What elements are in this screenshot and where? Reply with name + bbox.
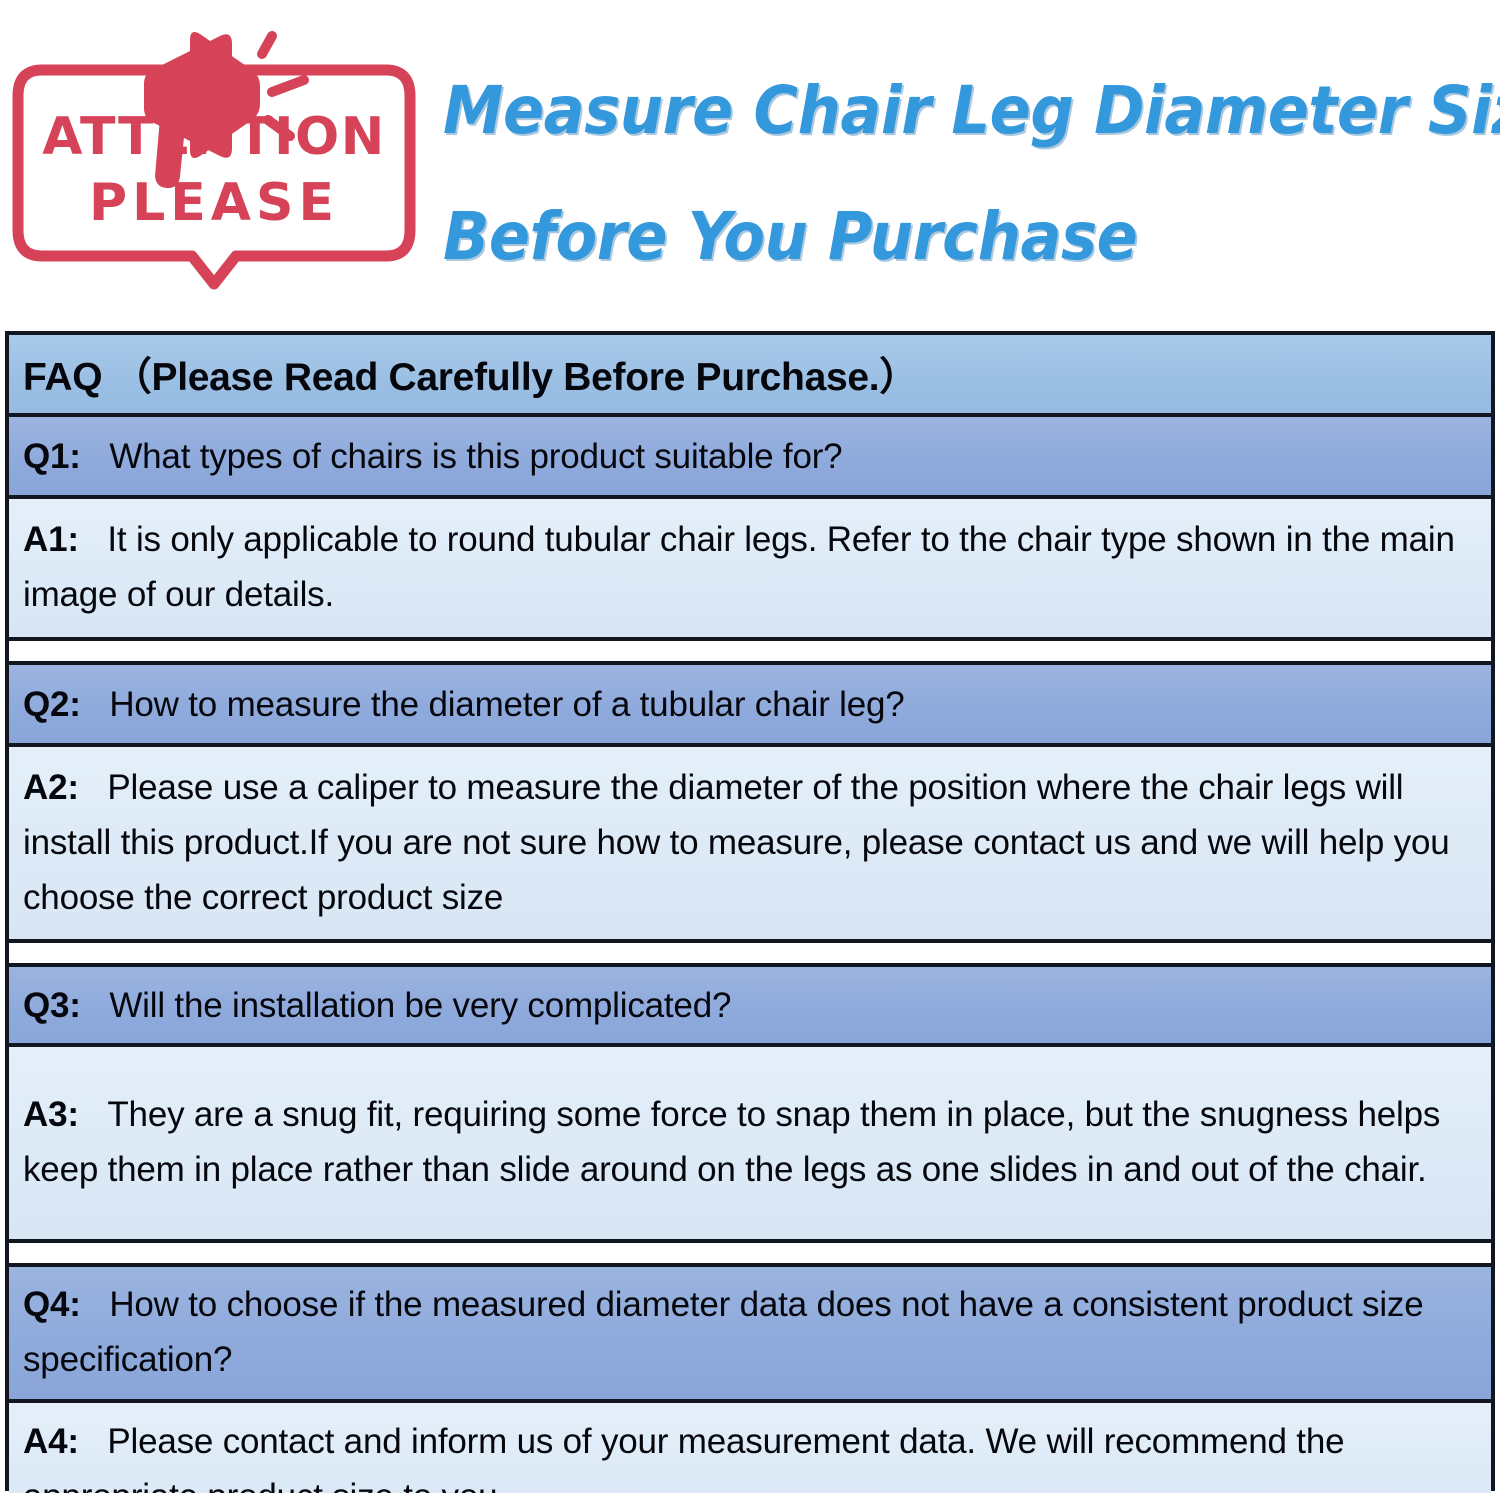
faq-answer-row-4: A4: Please contact and inform us of your… bbox=[9, 1403, 1491, 1493]
faq-a4-label: A4: bbox=[23, 1422, 79, 1461]
faq-a1-label: A1: bbox=[23, 520, 79, 559]
faq-table-header-row: FAQ （Please Read Carefully Before Purcha… bbox=[9, 335, 1491, 417]
faq-q4-text: How to choose if the measured diameter d… bbox=[23, 1285, 1424, 1379]
page-title-line2: Before You Purchase bbox=[443, 174, 1409, 300]
faq-question-row-2: Q2: How to measure the diameter of a tub… bbox=[9, 665, 1491, 747]
faq-spacer-3 bbox=[9, 1243, 1491, 1267]
attention-badge: ATTENTION PLEASE bbox=[4, 8, 424, 308]
faq-table: FAQ （Please Read Carefully Before Purcha… bbox=[5, 331, 1495, 1491]
faq-a3-label: A3: bbox=[23, 1095, 79, 1134]
faq-a2-text: Please use a caliper to measure the diam… bbox=[23, 768, 1450, 917]
faq-a4-text: Please contact and inform us of your mea… bbox=[23, 1422, 1344, 1493]
faq-q4-label: Q4: bbox=[23, 1285, 81, 1324]
faq-question-row-1: Q1: What types of chairs is this product… bbox=[9, 417, 1491, 499]
megaphone-icon bbox=[144, 32, 304, 188]
faq-a3-text: They are a snug fit, requiring some forc… bbox=[23, 1095, 1440, 1189]
faq-q2-label: Q2: bbox=[23, 685, 81, 724]
faq-q1-text: What types of chairs is this product sui… bbox=[109, 437, 842, 476]
faq-q3-text: Will the installation be very complicate… bbox=[109, 986, 731, 1025]
faq-q1-label: Q1: bbox=[23, 437, 81, 476]
page-title-line1: Measure Chair Leg Diameter Size bbox=[443, 48, 1409, 174]
page-title: Measure Chair Leg Diameter Size Before Y… bbox=[443, 48, 1493, 300]
faq-a2-label: A2: bbox=[23, 768, 79, 807]
faq-question-row-4: Q4: How to choose if the measured diamet… bbox=[9, 1267, 1491, 1403]
faq-spacer-1 bbox=[9, 641, 1491, 665]
product-info-graphic: ATTENTION PLEASE Measure Chair Leg Diame… bbox=[0, 0, 1500, 1493]
header-section: ATTENTION PLEASE Measure Chair Leg Diame… bbox=[0, 0, 1500, 318]
faq-q3-label: Q3: bbox=[23, 986, 81, 1025]
faq-answer-row-1: A1: It is only applicable to round tubul… bbox=[9, 499, 1491, 641]
attention-badge-frame bbox=[4, 8, 424, 308]
faq-a1-text: It is only applicable to round tubular c… bbox=[23, 520, 1455, 614]
faq-question-row-3: Q3: Will the installation be very compli… bbox=[9, 967, 1491, 1047]
faq-table-title: FAQ （Please Read Carefully Before Purcha… bbox=[23, 346, 918, 402]
faq-answer-row-3: A3: They are a snug fit, requiring some … bbox=[9, 1047, 1491, 1243]
faq-q2-text: How to measure the diameter of a tubular… bbox=[109, 685, 904, 724]
faq-spacer-2 bbox=[9, 943, 1491, 967]
faq-answer-row-2: A2: Please use a caliper to measure the … bbox=[9, 747, 1491, 943]
